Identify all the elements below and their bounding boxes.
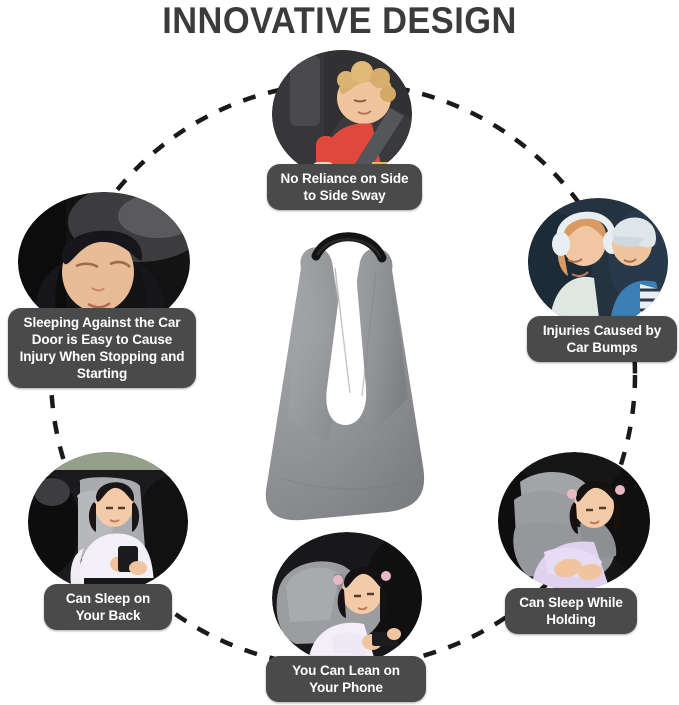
product-image <box>258 228 436 528</box>
feature-photo-bottom-center <box>272 532 422 664</box>
page-title: INNOVATIVE DESIGN <box>24 0 655 44</box>
feature-photo-bottom-left <box>28 452 188 592</box>
feature-caption-left: Sleeping Against the Car Door is Easy to… <box>8 308 196 388</box>
feature-caption-bottom-left: Can Sleep on Your Back <box>44 584 172 630</box>
feature-photo-right <box>528 198 668 326</box>
feature-caption-top: No Reliance on Side to Side Sway <box>267 164 422 210</box>
feature-caption-bottom-center: You Can Lean on Your Phone <box>266 656 426 702</box>
infographic-canvas: INNOVATIVE DESIGN <box>0 0 679 705</box>
feature-photo-bottom-right <box>498 452 650 590</box>
feature-photo-top <box>272 50 412 178</box>
feature-caption-right: Injuries Caused by Car Bumps <box>527 316 677 362</box>
feature-caption-bottom-right: Can Sleep While Holding <box>505 588 637 634</box>
